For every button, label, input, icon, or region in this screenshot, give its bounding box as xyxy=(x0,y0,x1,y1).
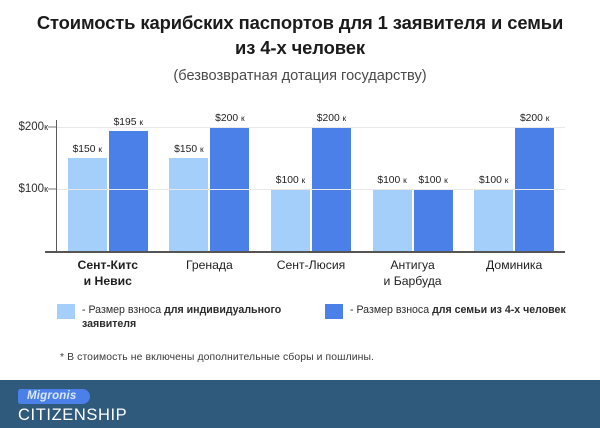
bar-value-label: $200 к xyxy=(520,113,549,124)
legend-item-individual[interactable]: - Размер взноса для индивидуального заяв… xyxy=(57,303,325,331)
y-axis-tick-mark xyxy=(48,127,56,128)
bar-value-label: $200 к xyxy=(215,113,244,124)
x-axis-category-label: Сент-Китси Невис xyxy=(57,258,159,289)
bar-group: $150 к$200 к xyxy=(159,112,261,251)
bar-family[interactable]: $200 к xyxy=(312,112,351,251)
plot-area: $100к$200к $150 к$195 к$150 к$200 к$100 … xyxy=(0,112,600,252)
bar-rect[interactable] xyxy=(414,189,453,251)
brand-logo: Migronis CITIZENSHIP xyxy=(18,386,127,425)
bar-rect[interactable] xyxy=(109,131,148,251)
bar-value-label: $150 к xyxy=(73,144,102,155)
bar-family[interactable]: $200 к xyxy=(515,112,554,251)
bar-group: $150 к$195 к xyxy=(57,112,159,251)
chart-title: Стоимость карибских паспортов для 1 заяв… xyxy=(0,10,600,60)
bar-rect[interactable] xyxy=(474,189,513,251)
x-axis-category-label: Доминика xyxy=(463,258,565,289)
chart-subtitle: (безвозвратная дотация государству) xyxy=(0,67,600,86)
bar-rect[interactable] xyxy=(68,158,107,251)
legend-label: - Размер взноса для семьи из 4-х человек xyxy=(350,303,566,317)
bar-group: $100 к$200 к xyxy=(260,112,362,251)
legend-swatch xyxy=(325,304,343,319)
bar-group: $100 к$200 к xyxy=(463,112,565,251)
y-axis-tick-label: $100к xyxy=(4,183,48,195)
bar-value-label: $200 к xyxy=(317,113,346,124)
x-axis-line xyxy=(45,251,565,253)
bar-individual[interactable]: $100 к xyxy=(474,112,513,251)
bar-group: $100 к$100 к xyxy=(362,112,464,251)
bar-rect[interactable] xyxy=(271,189,310,251)
x-axis-category-label: Гренада xyxy=(159,258,261,289)
bar-value-label: $100 к xyxy=(418,175,447,186)
y-axis-tick-label: $200к xyxy=(4,121,48,133)
bar-individual[interactable]: $100 к xyxy=(271,112,310,251)
bar-individual[interactable]: $150 к xyxy=(169,112,208,251)
bar-individual[interactable]: $150 к xyxy=(68,112,107,251)
legend-swatch xyxy=(57,304,75,319)
footnote: * В стоимость не включены дополнительные… xyxy=(60,352,374,363)
bar-rect[interactable] xyxy=(169,158,208,251)
bar-value-label: $100 к xyxy=(479,175,508,186)
x-axis-category-label: Сент-Люсия xyxy=(260,258,362,289)
title-block: Стоимость карибских паспортов для 1 заяв… xyxy=(0,10,600,86)
brand-badge: Migronis xyxy=(18,389,90,404)
bar-family[interactable]: $195 к xyxy=(109,112,148,251)
gridline xyxy=(57,127,565,128)
legend-item-family[interactable]: - Размер взноса для семьи из 4-х человек xyxy=(325,303,575,331)
y-axis-labels: $100к$200к xyxy=(4,112,48,252)
y-axis-tick-mark xyxy=(48,189,56,190)
bar-groups: $150 к$195 к$150 к$200 к$100 к$200 к$100… xyxy=(57,112,565,251)
x-axis-category-label: Антигуаи Барбуда xyxy=(362,258,464,289)
bar-rect[interactable] xyxy=(373,189,412,251)
bar-value-label: $195 к xyxy=(114,117,143,128)
bar-family[interactable]: $100 к xyxy=(414,112,453,251)
bar-value-label: $100 к xyxy=(276,175,305,186)
gridline xyxy=(57,189,565,190)
legend-label: - Размер взноса для индивидуального заяв… xyxy=(82,303,325,331)
footer-bar: Migronis CITIZENSHIP xyxy=(0,380,600,428)
bar-value-label: $100 к xyxy=(377,175,406,186)
chart-legend: - Размер взноса для индивидуального заяв… xyxy=(57,303,577,331)
x-axis-categories: Сент-Китси НевисГренадаСент-ЛюсияАнтигуа… xyxy=(57,258,565,289)
brand-word: CITIZENSHIP xyxy=(18,406,127,425)
bar-individual[interactable]: $100 к xyxy=(373,112,412,251)
bar-value-label: $150 к xyxy=(174,144,203,155)
chart-page: Стоимость карибских паспортов для 1 заяв… xyxy=(0,0,600,428)
bar-family[interactable]: $200 к xyxy=(210,112,249,251)
